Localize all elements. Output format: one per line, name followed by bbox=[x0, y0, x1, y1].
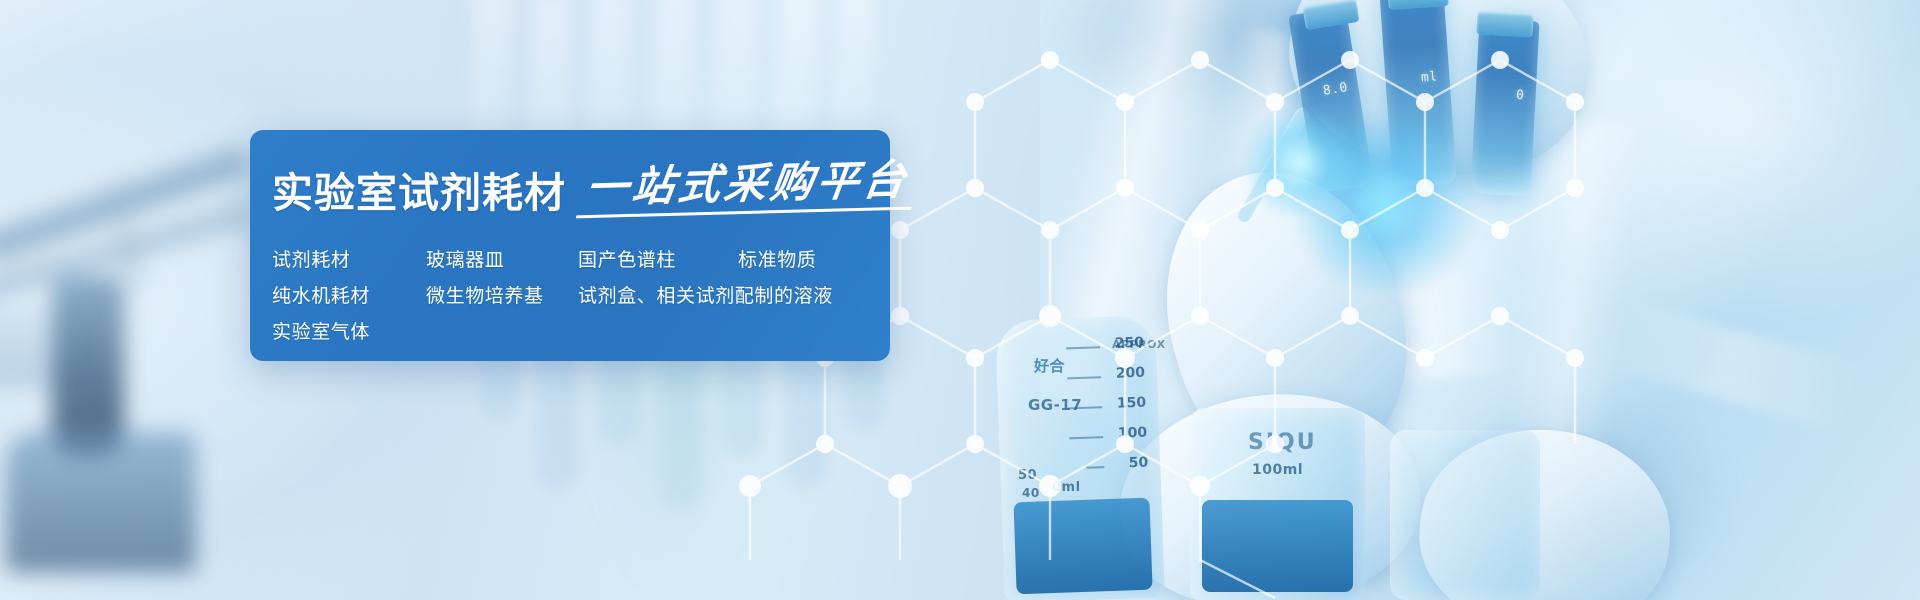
beaker-siqu-label: SIQU bbox=[1248, 430, 1317, 455]
headline-main-text: 实验室试剂耗材 bbox=[272, 173, 566, 214]
beaker-tick-0ml: 0ml bbox=[1052, 480, 1081, 495]
graduated-beaker: 250 200 150 100 50 bbox=[995, 315, 1165, 600]
beaker-brand-label: 好合 bbox=[1034, 355, 1065, 376]
category-link[interactable]: 试剂盒、相关试剂配制的溶液 bbox=[578, 281, 833, 308]
category-link[interactable]: 纯水机耗材 bbox=[272, 281, 426, 308]
vial-mark-label: ml bbox=[1421, 67, 1439, 88]
headline: 实验室试剂耗材 一站式采购平台 bbox=[272, 156, 872, 214]
beaker-tick-40: 40 bbox=[1022, 486, 1040, 500]
beaker-volume-label: 100ml bbox=[1252, 462, 1303, 478]
blue-glow-core bbox=[1240, 108, 1360, 218]
category-link[interactable]: 国产色谱柱 bbox=[578, 245, 738, 272]
lab-supplies-banner: 8.0 ml 0 250 200 150 100 50 APPROX 好合 GG… bbox=[0, 0, 1920, 600]
headline-script-text: 一站式采购平台 bbox=[576, 159, 918, 219]
flask-tertiary bbox=[1390, 430, 1540, 600]
category-links: 试剂耗材 玻璃器皿 国产色谱柱 标准物质 纯水机耗材 微生物培养基 试剂盒、相关… bbox=[272, 240, 872, 348]
microscope-silhouette bbox=[0, 40, 290, 560]
category-link[interactable]: 试剂耗材 bbox=[272, 245, 426, 272]
beaker-approx-label: APPROX bbox=[1112, 338, 1166, 351]
vial-mark-label: 8.0 bbox=[1322, 78, 1350, 102]
beaker-gg17-label: GG-17 bbox=[1028, 396, 1082, 414]
graduation-label: 50 bbox=[1128, 455, 1148, 472]
promo-card: 实验室试剂耗材 一站式采购平台 试剂耗材 玻璃器皿 国产色谱柱 标准物质 纯水机… bbox=[250, 130, 890, 361]
graduation-label: 100 bbox=[1118, 425, 1148, 442]
category-link[interactable]: 玻璃器皿 bbox=[426, 245, 578, 272]
category-link[interactable]: 标准物质 bbox=[738, 245, 816, 272]
category-link[interactable]: 实验室气体 bbox=[272, 317, 426, 344]
vial-cap bbox=[1476, 11, 1533, 38]
vial-mark-label: 0 bbox=[1515, 86, 1524, 106]
beaker-tick-50: 50 bbox=[1018, 468, 1037, 483]
category-row: 实验室气体 bbox=[272, 312, 872, 348]
category-row: 试剂耗材 玻璃器皿 国产色谱柱 标准物质 bbox=[272, 240, 872, 276]
graduation-label: 200 bbox=[1116, 365, 1146, 382]
graduation-label: 150 bbox=[1117, 395, 1147, 412]
category-row: 纯水机耗材 微生物培养基 试剂盒、相关试剂配制的溶液 bbox=[272, 276, 872, 312]
category-link[interactable]: 微生物培养基 bbox=[426, 281, 578, 308]
